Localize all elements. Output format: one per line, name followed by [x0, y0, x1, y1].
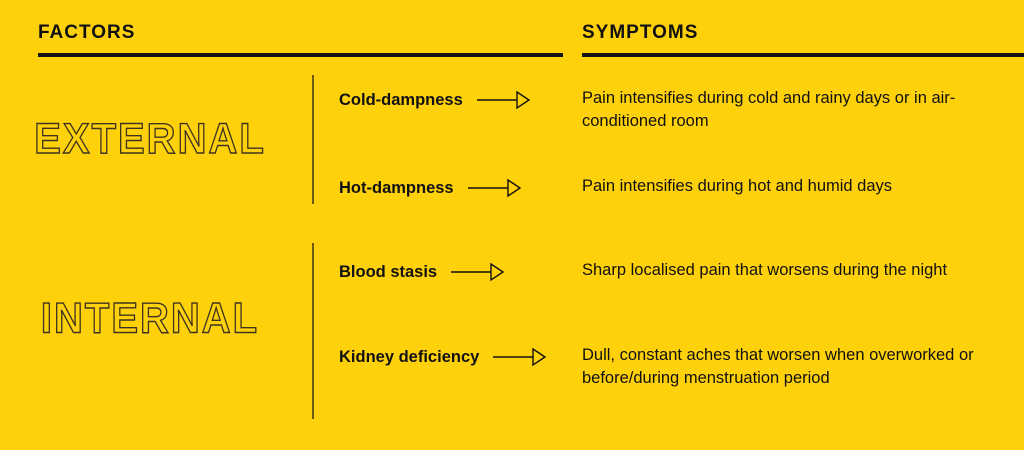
symptom-text-blood-stasis: Sharp localised pain that worsens during… [582, 259, 982, 282]
factor-label-hot-dampness: Hot-dampness [339, 176, 454, 200]
factor-label-blood-stasis: Blood stasis [339, 260, 437, 284]
header-rule-right [582, 53, 1024, 57]
column-header-factors: FACTORS [38, 22, 135, 44]
section-divider-internal [312, 243, 314, 419]
symptom-text-cold-dampness: Pain intensifies during cold and rainy d… [582, 87, 982, 133]
arrow-icon [451, 262, 507, 282]
factor-label-kidney-deficiency: Kidney deficiency [339, 345, 479, 369]
section-divider-external [312, 75, 314, 204]
column-header-symptoms: SYMPTOMS [582, 22, 698, 44]
section-title-internal: INTERNAL [0, 296, 300, 344]
infographic-root: FACTORS SYMPTOMS EXTERNAL INTERNAL Cold-… [0, 0, 1024, 450]
section-title-external: EXTERNAL [0, 116, 300, 164]
arrow-icon [493, 347, 549, 367]
symptom-text-kidney-deficiency: Dull, constant aches that worsen when ov… [582, 344, 982, 390]
symptom-text-hot-dampness: Pain intensifies during hot and humid da… [582, 175, 982, 198]
arrow-icon [477, 90, 533, 110]
arrow-icon [468, 178, 524, 198]
factor-label-cold-dampness: Cold-dampness [339, 88, 463, 112]
header-rule-left [38, 53, 563, 57]
